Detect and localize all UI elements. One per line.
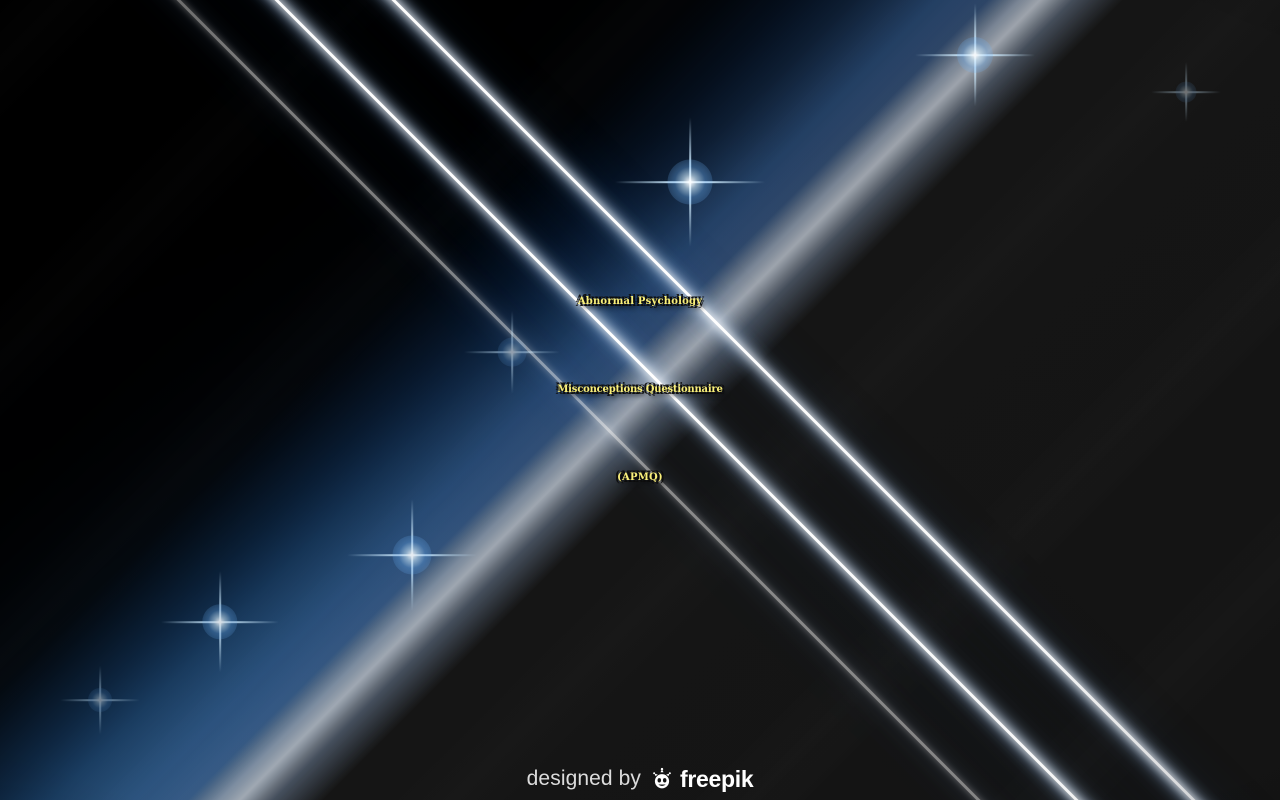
freepik-crowned-face-icon xyxy=(650,767,674,791)
attribution-prefix-label: designed by xyxy=(527,767,641,791)
poster-title: Abnormal Psychology Misconceptions Quest… xyxy=(0,258,1280,522)
sparkle-upper-right-icon xyxy=(915,0,1035,115)
attribution-footer: designed by freepik xyxy=(0,762,1280,796)
title-line-1: Abnormal Psychology xyxy=(0,258,1280,346)
freepik-wordmark: freepik xyxy=(680,766,753,793)
poster-canvas: Abnormal Psychology Misconceptions Quest… xyxy=(0,0,1280,800)
freepik-lockup[interactable]: freepik xyxy=(650,766,753,793)
title-line-3-abbreviation: (APMQ) xyxy=(0,434,1280,522)
sparkle-far-left-icon xyxy=(60,660,140,740)
title-line-2: Misconceptions Questionnaire xyxy=(0,346,1280,434)
sparkle-edge-right-icon xyxy=(1151,57,1221,127)
sparkle-lower-left-icon xyxy=(161,563,279,681)
